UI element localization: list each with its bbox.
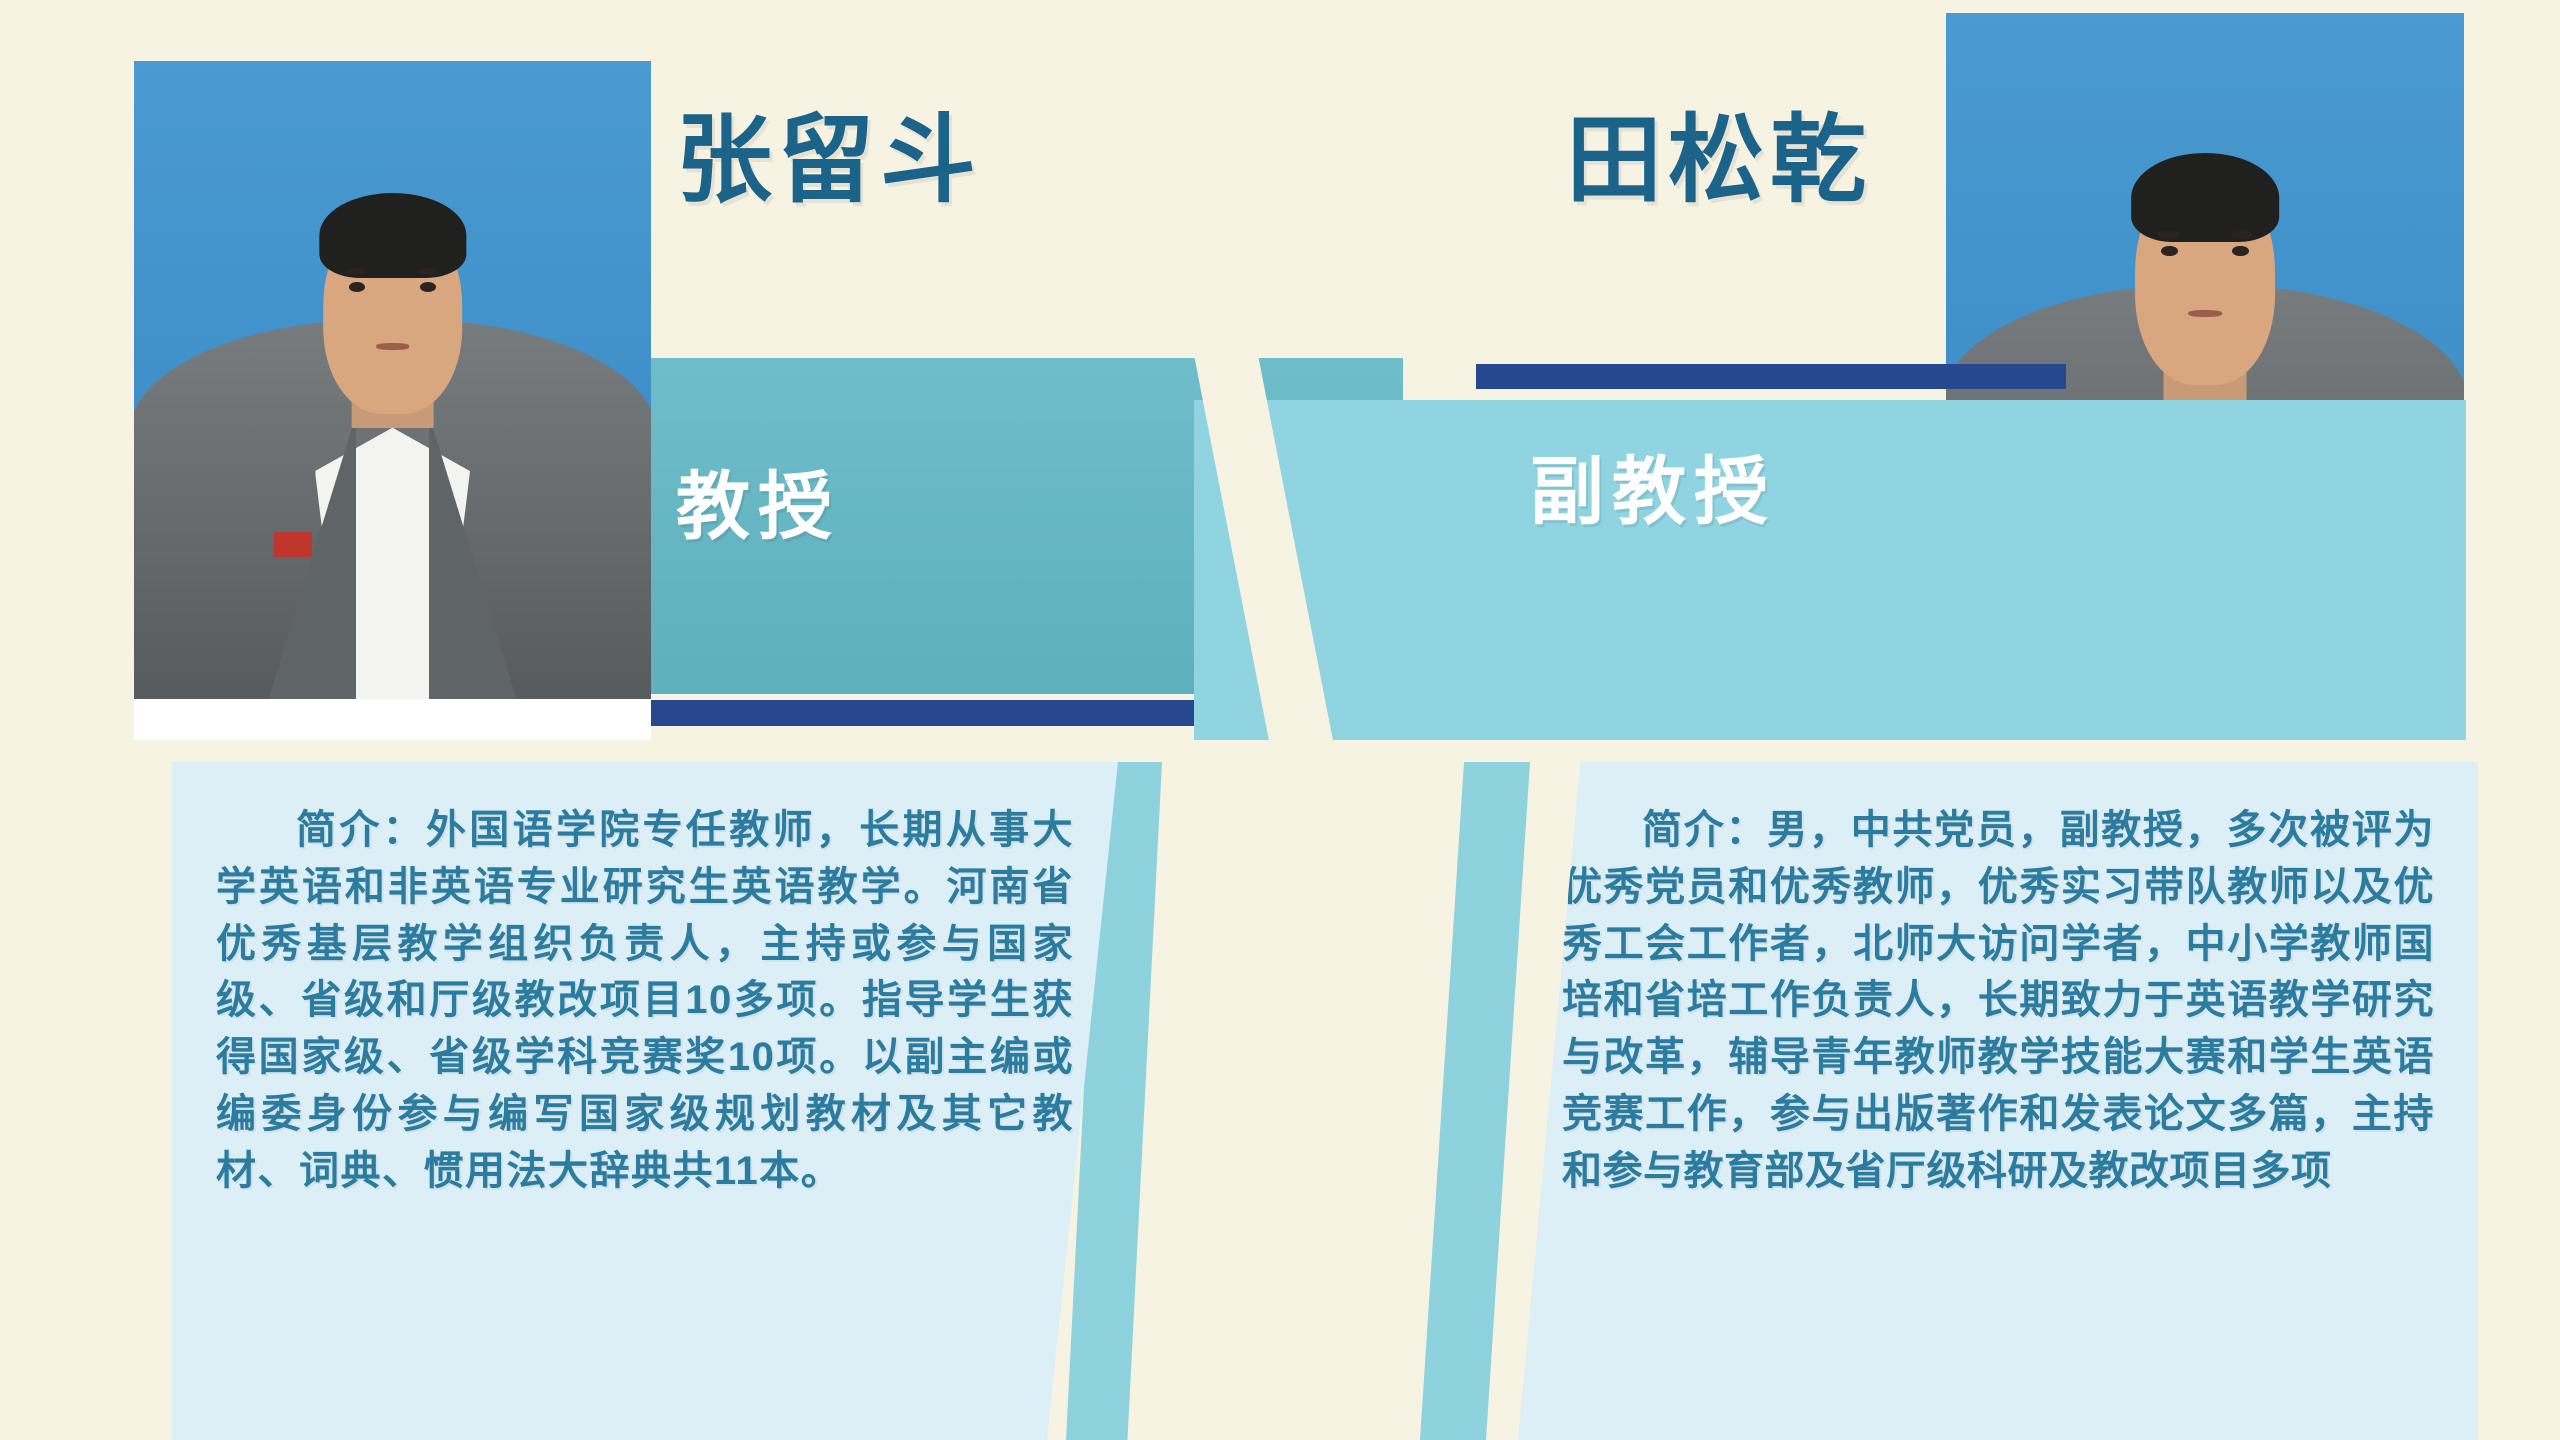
accent-bar-right xyxy=(1476,364,2066,389)
person-name-right: 田松乾 xyxy=(1566,82,1872,221)
bio-panel-right: 简介：男，中共党员，副教授，多次被评为优秀党员和优秀教师，优秀实习带队教师以及优… xyxy=(1518,762,2478,1440)
hair xyxy=(2131,153,2279,243)
rank-title-left: 教授 xyxy=(676,447,840,554)
eyebrow-right xyxy=(2231,231,2252,237)
rank-title-right-wrap: 副教授 xyxy=(1530,420,2230,550)
portrait-photo-left xyxy=(134,61,651,740)
lapel-pin-badge xyxy=(274,532,313,556)
mouth xyxy=(2188,310,2222,317)
mouth xyxy=(376,343,410,350)
slide-root: 教授 副教授 张留斗 田松乾 简介：外国语学院专任教师，长期从事大学英语和非英语… xyxy=(0,0,2560,1440)
eyebrow-left xyxy=(2158,231,2179,237)
eye-left xyxy=(349,282,366,292)
bio-panel-left: 简介：外国语学院专任教师，长期从事大学英语和非英语专业研究生英语教学。河南省优秀… xyxy=(172,762,1118,1440)
eyebrow-right xyxy=(418,268,439,274)
bio-text-right: 简介：男，中共党员，副教授，多次被评为优秀党员和优秀教师，优秀实习带队教师以及优… xyxy=(1562,802,2434,1200)
bio-text-left: 简介：外国语学院专任教师，长期从事大学英语和非英语专业研究生英语教学。河南省优秀… xyxy=(216,802,1074,1200)
hair xyxy=(319,193,466,278)
person-name-left: 张留斗 xyxy=(676,82,982,221)
rank-title-left-wrap: 教授 xyxy=(651,440,1403,560)
rank-title-right: 副教授 xyxy=(1530,432,1776,539)
eye-left xyxy=(2161,246,2178,257)
eyebrow-left xyxy=(346,268,367,274)
eye-right xyxy=(420,282,437,292)
